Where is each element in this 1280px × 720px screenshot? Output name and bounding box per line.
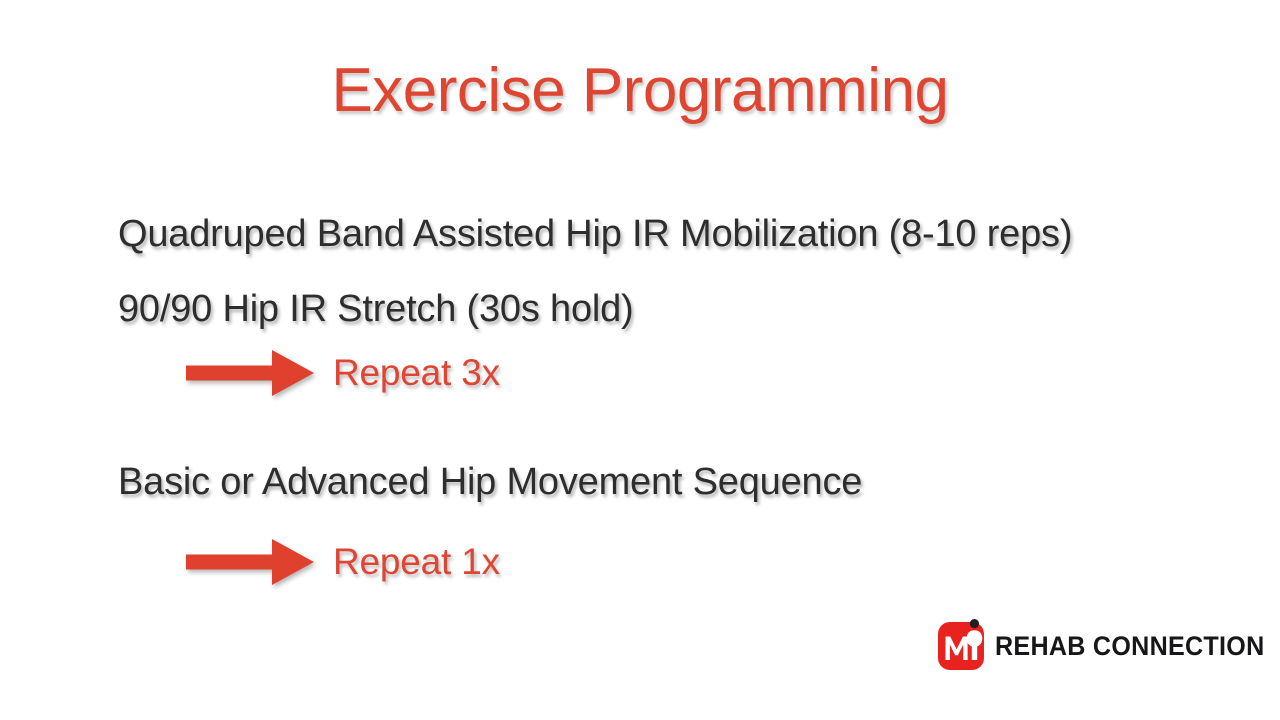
exercise-line-2: 90/90 Hip IR Stretch (30s hold) (118, 289, 634, 331)
slide-canvas: Exercise Programming Quadruped Band Assi… (0, 0, 1280, 720)
page-title: Exercise Programming (0, 58, 1280, 123)
brand-logo: REHAB CONNECTION (936, 616, 1280, 672)
my-rehab-connection-logo-icon (936, 616, 986, 672)
exercise-line-3: Basic or Advanced Hip Movement Sequence (118, 462, 862, 504)
repeat-row-1: Repeat 3x (186, 350, 500, 396)
arrow-right-icon (186, 539, 314, 585)
repeat-label-2: Repeat 1x (333, 542, 500, 583)
repeat-label-1: Repeat 3x (333, 353, 500, 394)
logo-wordmark: REHAB CONNECTION (995, 631, 1265, 662)
arrow-right-icon (186, 350, 314, 396)
exercise-line-1: Quadruped Band Assisted Hip IR Mobilizat… (118, 214, 1072, 256)
repeat-row-2: Repeat 1x (186, 539, 500, 585)
